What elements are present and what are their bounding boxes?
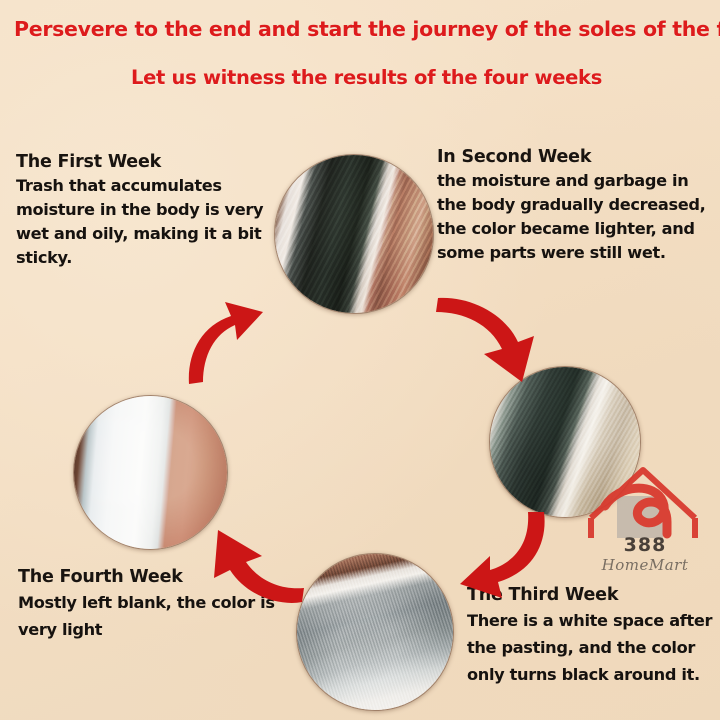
week-block-second: In Second Week the moisture and garbage … bbox=[437, 147, 715, 265]
arrow-week4-to-week1-icon bbox=[179, 296, 289, 388]
poster-headline-secondary: Let us witness the results of the four w… bbox=[131, 66, 602, 89]
photo-week-3 bbox=[296, 553, 454, 711]
photo-week-3-image bbox=[297, 554, 453, 710]
week-body-second: the moisture and garbage in the body gra… bbox=[437, 169, 715, 265]
watermark-logo: 388 HomeMart bbox=[585, 462, 705, 580]
poster-canvas: Persevere to the end and start the journ… bbox=[0, 0, 720, 720]
week-block-first: The First Week Trash that accumulates mo… bbox=[16, 152, 266, 270]
week-title-second: In Second Week bbox=[437, 147, 715, 167]
arrow-week2-to-week3-icon bbox=[448, 508, 554, 602]
arrow-week1-to-week2-icon bbox=[434, 292, 558, 388]
week-body-first: Trash that accumulates moisture in the b… bbox=[16, 174, 266, 270]
week-title-first: The First Week bbox=[16, 152, 266, 172]
arrow-week3-to-week4-icon bbox=[186, 518, 306, 610]
poster-headline-primary: Persevere to the end and start the journ… bbox=[14, 17, 720, 41]
watermark-brand: HomeMart bbox=[585, 556, 705, 574]
photo-week-1-image bbox=[275, 155, 433, 313]
photo-week-1 bbox=[274, 154, 434, 314]
week-body-third: There is a white space after the pasting… bbox=[467, 607, 717, 689]
house-roof-icon bbox=[585, 462, 705, 540]
watermark-number: 388 bbox=[585, 534, 705, 556]
